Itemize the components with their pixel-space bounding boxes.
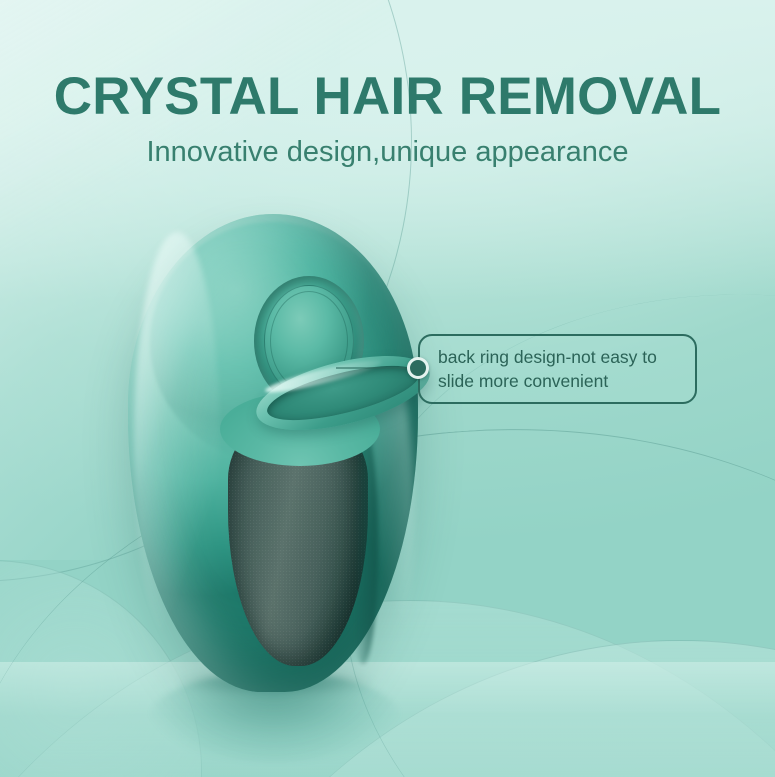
callout-marker-dot [407,357,429,379]
page-title: CRYSTAL HAIR REMOVAL [0,66,775,127]
callout-box: back ring design-not easy to slide more … [418,334,697,404]
product-poster: CRYSTAL HAIR REMOVAL Innovative design,u… [0,0,775,777]
callout-text: back ring design-not easy to slide more … [438,345,657,393]
product-panel-edge-shadow [348,424,378,664]
callout-leader-line [336,367,412,369]
page-subtitle: Innovative design,unique appearance [0,136,775,169]
product-rim-light-left [134,232,220,652]
product-image [128,214,418,692]
